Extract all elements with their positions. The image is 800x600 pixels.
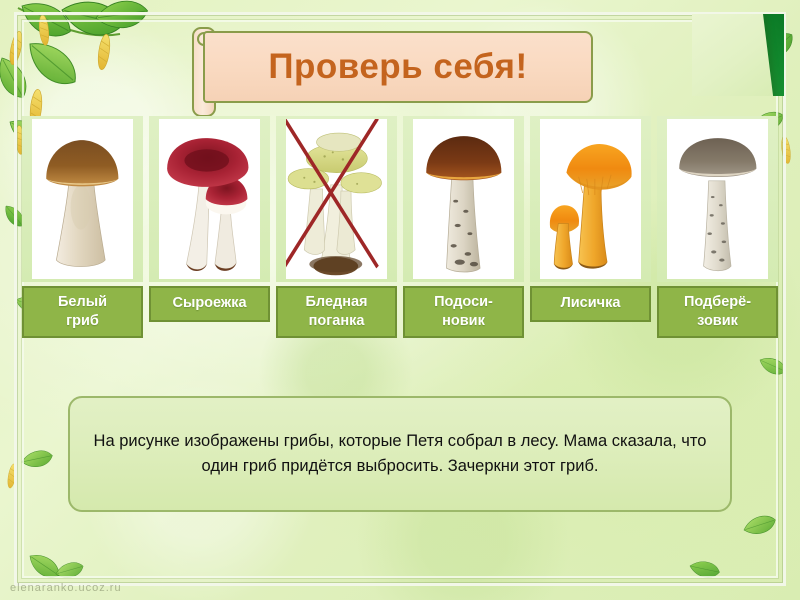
mushroom-gallery [22,116,778,282]
title-banner: Проверь себя! [203,31,593,103]
label-line-1: Белый [58,294,107,310]
slide: Проверь себя! [0,0,800,600]
mushroom-photo-podosinovik [413,119,515,278]
label-line-1: Бледная [306,294,368,310]
birch-bolete-illustration [667,119,769,278]
task-textbox: На рисунке изображены грибы, которые Пет… [68,396,732,512]
mushroom-photo-syroezhka [159,119,261,278]
mushroom-card-syroezhka[interactable] [149,116,270,282]
mushroom-card-blednaya-poganka[interactable] [276,116,397,282]
watermark: elenaranko.ucoz.ru [10,582,122,594]
mushroom-card-belyy-grib[interactable] [22,116,143,282]
label-lisichka[interactable]: Лисичка [530,286,651,322]
task-text: На рисунке изображены грибы, которые Пет… [86,429,714,479]
label-line-1: Сыроежка [172,294,246,313]
mushroom-card-podosinovik[interactable] [403,116,524,282]
label-line-2: гриб [66,313,99,329]
russula-illustration [159,119,261,278]
mushroom-photo-belyy-grib [32,119,134,278]
label-line-1: Подоси- [434,294,493,310]
label-line-1: Подберё- [684,294,751,310]
chanterelle-illustration [540,119,642,278]
label-line-1: Лисичка [561,294,621,313]
label-belyy-grib[interactable]: Белыйгриб [22,286,143,338]
label-line-2: поганка [309,313,365,329]
mushroom-labels: Белыйгриб Сыроежка Бледнаяпоганка Подоси… [22,286,778,344]
page-curl-decoration [692,14,784,96]
label-syroezhka[interactable]: Сыроежка [149,286,270,322]
label-podosinovik[interactable]: Подоси-новик [403,286,524,338]
mushroom-card-podberezovik[interactable] [657,116,778,282]
mushroom-photo-podberezovik [667,119,769,278]
mushroom-card-lisichka[interactable] [530,116,651,282]
label-line-2: зовик [697,313,738,329]
deathcap-illustration [286,119,388,278]
page-title: Проверь себя! [268,47,527,87]
mushroom-photo-blednaya-poganka [286,119,388,278]
banner-body: Проверь себя! [203,31,593,103]
label-podberezovik[interactable]: Подберё-зовик [657,286,778,338]
aspen-bolete-illustration [413,119,515,278]
mushroom-photo-lisichka [540,119,642,278]
label-line-2: новик [442,313,485,329]
label-blednaya-poganka[interactable]: Бледнаяпоганка [276,286,397,338]
porcini-illustration [32,119,134,278]
